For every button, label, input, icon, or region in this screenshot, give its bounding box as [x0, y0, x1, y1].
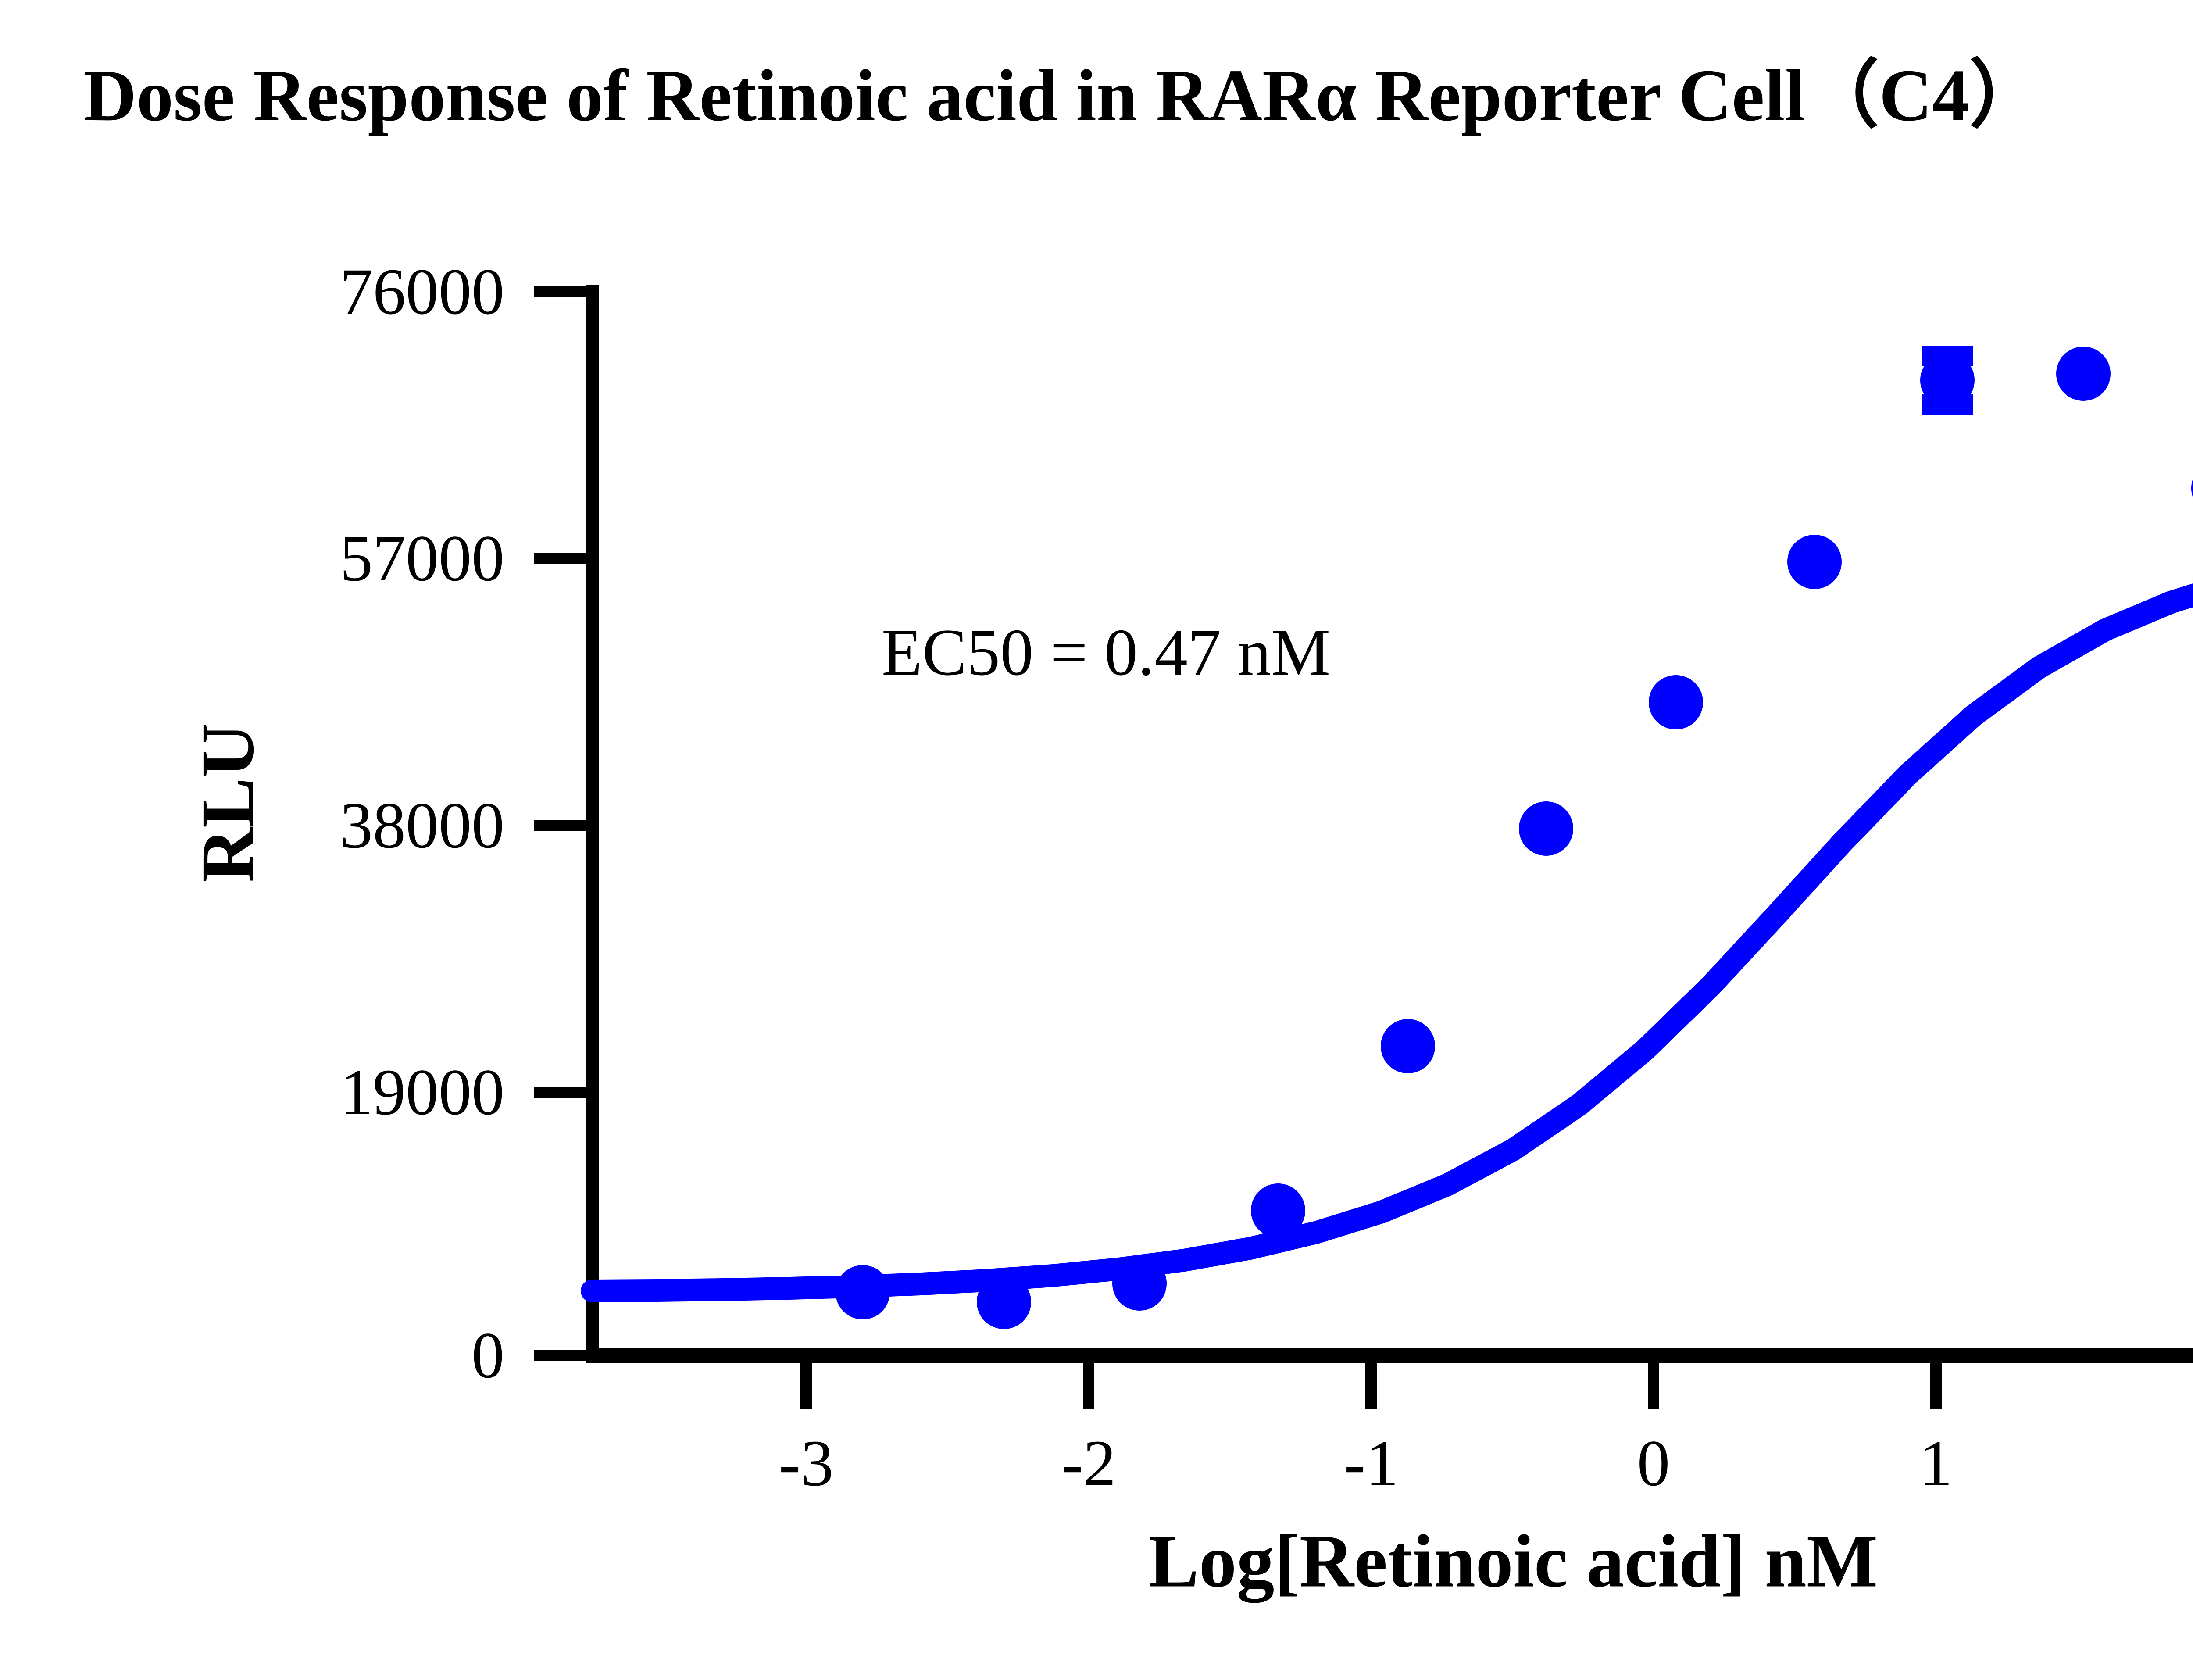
data-point — [836, 1265, 890, 1319]
axes — [586, 285, 2193, 1355]
y-tick-label-38000: 38000 — [340, 788, 504, 863]
data-point — [1251, 1183, 1305, 1238]
y-axis-title: RLU — [185, 723, 271, 882]
y-tick-marks — [534, 292, 592, 1355]
data-point-with-error — [1920, 353, 1975, 407]
x-tick-marks — [806, 1355, 2193, 1409]
data-point — [1112, 1256, 1167, 1311]
chart-figure: Dose Response of Retinoic acid in RARα R… — [0, 0, 2193, 1680]
data-point-with-error — [2191, 460, 2193, 517]
data-point — [977, 1275, 1031, 1329]
data-points — [836, 347, 2193, 1329]
data-point — [1381, 1019, 1435, 1073]
y-tick-label-57000: 57000 — [340, 521, 504, 596]
y-tick-label-76000: 76000 — [340, 254, 504, 329]
ec50-annotation: EC50 = 0.47 nM — [882, 614, 1330, 690]
y-tick-label-19000: 19000 — [340, 1054, 504, 1130]
x-tick-label-neg3: -3 — [779, 1426, 834, 1501]
data-point — [1519, 801, 1573, 856]
data-point — [2056, 347, 2111, 401]
x-tick-label-0: 0 — [1637, 1426, 1670, 1501]
x-tick-label-neg2: -2 — [1061, 1426, 1116, 1501]
x-tick-label-1: 1 — [1920, 1426, 1953, 1501]
data-point — [1787, 535, 1842, 589]
x-tick-label-neg1: -1 — [1344, 1426, 1399, 1501]
y-tick-label-0: 0 — [471, 1318, 504, 1393]
data-point — [1649, 675, 1703, 729]
fit-curve — [592, 587, 2193, 1291]
x-axis-title: Log[Retinoic acid] nM — [1149, 1519, 1878, 1605]
